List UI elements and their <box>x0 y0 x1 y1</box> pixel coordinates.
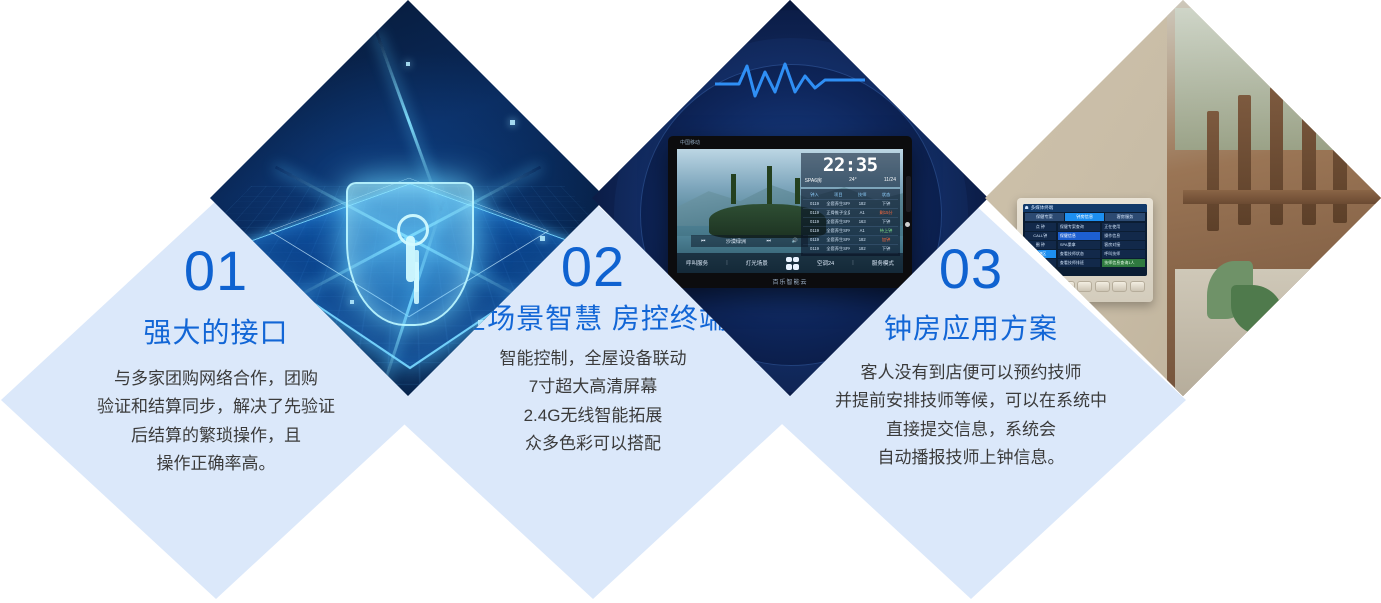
side-item-0[interactable]: 点 钟 <box>1025 223 1056 231</box>
plant-leaf <box>1262 309 1302 357</box>
card-title-line: 钟房应用方案 <box>884 313 1058 344</box>
right-item-1[interactable]: 操作信息 <box>1102 232 1144 240</box>
cell: 加钟 <box>874 236 898 244</box>
card-title-line: 强大的接口 <box>143 317 288 348</box>
spark-dot <box>540 236 545 241</box>
dock-item-service-mode[interactable]: 服务模式 <box>872 259 894 267</box>
card-body-line: 后结算的繁琐操作，且 <box>97 422 335 451</box>
wood-slat <box>1207 111 1219 231</box>
card-body-line: 验证和结算同步，解决了先验证 <box>97 393 335 422</box>
dock-separator: | <box>726 260 727 266</box>
side-item-2[interactable]: 圈 钟 <box>1025 241 1056 249</box>
spark-dot <box>350 300 354 304</box>
cell: 182 <box>850 200 874 208</box>
room-label: SPA6房 <box>805 177 822 184</box>
cell: 下钟 <box>874 218 898 226</box>
cell: 0119 <box>803 200 827 208</box>
tablet-camera-dot <box>905 222 910 227</box>
cell: 全套养生SPA <box>826 218 850 226</box>
card-number: 02 <box>561 239 625 295</box>
dock-item-aircon[interactable]: 空调24 <box>817 259 834 267</box>
card-body: 与多家团购网络合作，团购 验证和结算同步，解决了先验证 后结算的繁琐操作，且 操… <box>97 365 335 479</box>
panel-tab-health[interactable]: 保健专案 <box>1025 213 1064 221</box>
cell: 全套养生SPA <box>826 236 850 244</box>
wood-slat <box>1238 95 1251 225</box>
mid-item-1[interactable]: 保健信息 <box>1058 232 1100 240</box>
card-body-line: 众多色彩可以搭配 <box>500 430 687 459</box>
date-label: 11/24 <box>884 177 896 184</box>
pulse-wave-icon <box>715 58 865 104</box>
wallpaper-tree <box>731 174 736 204</box>
tablet-status-label: 中国移动 <box>680 139 700 146</box>
card-body-line: 并提前安排技师等候，可以在系统中 <box>835 387 1107 416</box>
th-project: 项目 <box>826 191 850 199</box>
cell: 163 <box>850 218 874 226</box>
tablet-screen[interactable]: 22:35 SPA6房 24° 11/24 钟入 项目 技师 状态 <box>677 149 903 273</box>
cell: 182 <box>850 245 874 253</box>
cell: 剩15分 <box>874 209 898 217</box>
tablet-brand-label: 百乐智能云 <box>668 277 912 286</box>
panel-button[interactable] <box>1130 281 1145 292</box>
panel-tabs[interactable]: 保健专案 钟房信息 客房服务 <box>1023 212 1147 222</box>
table-row: 0119 全套养生SPA 182 下钟 <box>803 200 898 209</box>
card-body-line: 操作正确率高。 <box>97 450 335 479</box>
card-body-line: 与多家团购网络合作，团购 <box>97 365 335 394</box>
clock-meta: SPA6房 24° 11/24 <box>805 177 896 184</box>
spark-dot <box>406 62 410 66</box>
floor-surface <box>1175 269 1381 396</box>
right-item-4[interactable]: 技师信息查询1人 <box>1102 259 1144 267</box>
mid-item-2[interactable]: SPA桑拿 <box>1058 241 1100 249</box>
th-status: 状态 <box>874 191 898 199</box>
panel-middle-list[interactable]: 保健专案查询 保健信息 SPA桑拿 查看技师状态 查看技师排班 <box>1058 223 1100 274</box>
wallpaper-tree <box>795 178 800 204</box>
right-item-2[interactable]: 客房对接 <box>1102 241 1144 249</box>
dock-item-light-scene[interactable]: 灯光场景 <box>746 259 768 267</box>
card-number: 03 <box>939 241 1003 297</box>
media-volume-icon[interactable]: 🔊 <box>792 238 798 244</box>
mid-item-4[interactable]: 查看技师排班 <box>1058 259 1100 267</box>
media-prev-icon[interactable]: ⏮ <box>701 238 706 244</box>
panel-button[interactable] <box>1077 281 1092 292</box>
tablet-device: 中国移动 22:35 SPA6房 24° 11/24 <box>668 136 912 288</box>
panel-header: ☗ 多媒体终端 <box>1023 204 1147 212</box>
card-body-line: 2.4G无线智能拓展 <box>500 402 687 431</box>
th-checkin: 钟入 <box>803 191 827 199</box>
cell: 0119 <box>803 227 827 235</box>
service-table: 钟入 项目 技师 状态 0119 全套养生SPA 182 下钟 0119 <box>801 189 900 256</box>
cell: 全套养生SPA <box>826 245 850 253</box>
cell: 待上钟 <box>874 227 898 235</box>
clock-widget: 22:35 SPA6房 24° 11/24 <box>801 153 900 187</box>
panel-button[interactable] <box>1112 281 1127 292</box>
card-title: 强大的接口 <box>143 315 288 351</box>
card-body: 客人没有到店便可以预约技师 并提前安排技师等候，可以在系统中 直接提交信息，系统… <box>835 359 1107 473</box>
dock-item-call-service[interactable]: 呼叫服务 <box>686 259 708 267</box>
panel-tab-clockroom[interactable]: 钟房信息 <box>1065 213 1104 221</box>
side-item-1[interactable]: CALL钟 <box>1025 232 1056 240</box>
bottom-dock[interactable]: 呼叫服务 | 灯光场景 空调24 | 服务模式 <box>677 253 903 273</box>
cell: 全套养生SPA <box>826 227 850 235</box>
apps-grid-icon[interactable] <box>786 257 799 270</box>
panel-tab-roomservice[interactable]: 客房服务 <box>1105 213 1144 221</box>
cell: 下钟 <box>874 200 898 208</box>
infographic-stage: 中国移动 22:35 SPA6房 24° 11/24 <box>0 0 1381 603</box>
spark-dot <box>510 120 515 125</box>
table-row: 0119 全套养生SPA 163 下钟 <box>803 218 898 227</box>
card-body-line: 自动播报技师上钟信息。 <box>835 444 1107 473</box>
media-next-icon[interactable]: ⏭ <box>766 238 771 244</box>
table-row: 0119 全套养生SPA 182 加钟 <box>803 236 898 245</box>
tablet-side-button[interactable] <box>906 176 911 212</box>
panel-home-icon: ☗ <box>1025 205 1029 211</box>
cell: 全套养生SPA <box>826 200 850 208</box>
mid-item-3[interactable]: 查看技师状态 <box>1058 250 1100 258</box>
mid-item-0[interactable]: 保健专案查询 <box>1058 223 1100 231</box>
card-number: 01 <box>184 243 248 299</box>
panel-screen[interactable]: ☗ 多媒体终端 保健专案 钟房信息 客房服务 点 钟 CALL钟 圈 钟 <box>1023 204 1147 276</box>
media-title: 沙漠绿洲 <box>726 238 746 245</box>
right-item-3[interactable]: 呼叫技师 <box>1102 250 1144 258</box>
cell: 0119 <box>803 209 827 217</box>
wood-rail <box>1183 190 1381 204</box>
panel-header-title: 多媒体终端 <box>1031 205 1054 211</box>
wallpaper-tree <box>767 166 772 204</box>
media-player-bar[interactable]: ⏮ 沙漠绿洲 ⏭ 🔊 <box>691 235 809 247</box>
wood-slat <box>1270 87 1283 225</box>
spark-dot <box>292 92 298 98</box>
temperature-label: 24° <box>849 177 857 184</box>
table-row: 0119 全套养生SPA A1 待上钟 <box>803 227 898 236</box>
cell: 0119 <box>803 218 827 226</box>
clock-time: 22:35 <box>805 156 896 175</box>
cell: 下钟 <box>874 245 898 253</box>
dock-separator: | <box>852 260 853 266</box>
card-title: 全场景智慧 房控终端 <box>458 301 728 337</box>
cell: 182 <box>850 236 874 244</box>
card-title: 钟房应用方案 <box>884 311 1058 347</box>
cell: 正骨推子全身理疗 <box>826 209 850 217</box>
cell: A1 <box>850 227 874 235</box>
card-body-line: 7寸超大高清屏幕 <box>500 373 687 402</box>
right-item-0[interactable]: 正在使用 <box>1102 223 1144 231</box>
card-body-line: 智能控制，全屋设备联动 <box>500 345 687 374</box>
cell: A1 <box>850 209 874 217</box>
card-body-line: 直接提交信息，系统会 <box>835 416 1107 445</box>
panel-button[interactable] <box>1095 281 1110 292</box>
card-body: 智能控制，全屋设备联动 7寸超大高清屏幕 2.4G无线智能拓展 众多色彩可以搭配 <box>500 345 687 459</box>
panel-right-list[interactable]: 正在使用 操作信息 客房对接 呼叫技师 技师信息查询1人 <box>1102 223 1144 274</box>
th-tech: 技师 <box>850 191 874 199</box>
card-body-line: 客人没有到店便可以预约技师 <box>835 359 1107 388</box>
table-row: 0119 正骨推子全身理疗 A1 剩15分 <box>803 209 898 218</box>
table-header-row: 钟入 项目 技师 状态 <box>803 191 898 200</box>
